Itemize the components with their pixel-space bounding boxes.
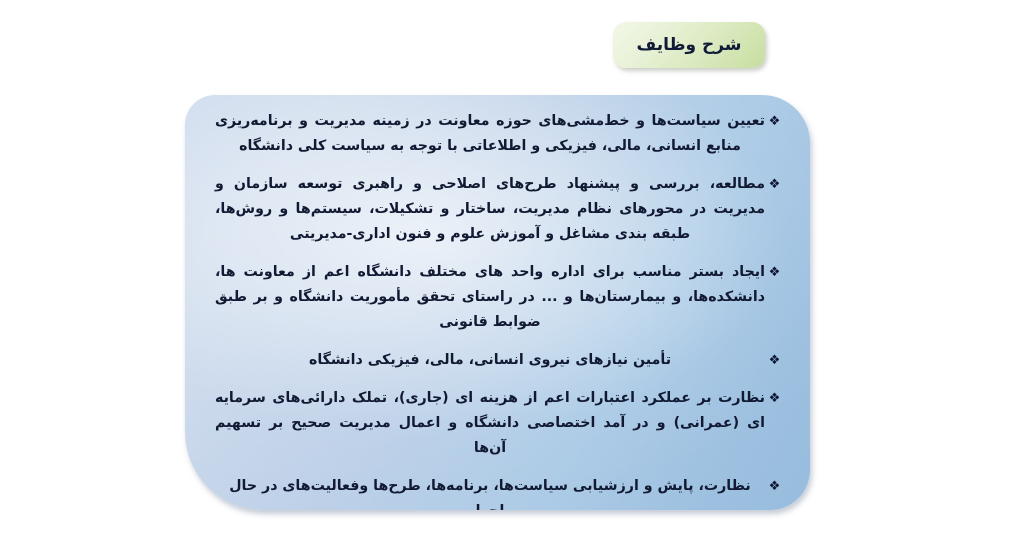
diamond-bullet-icon: ❖ (765, 109, 784, 134)
list-item-text: ایجاد بستر مناسب برای اداره واحد های مخت… (211, 260, 765, 335)
diamond-bullet-icon: ❖ (765, 348, 784, 373)
list-item: ❖تأمین نیازهای نیروی انسانی، مالی، فیزیک… (211, 348, 784, 373)
list-item-text: نظارت بر عملکرد اعتبارات اعم از هزینه ای… (211, 386, 765, 461)
diamond-bullet-icon: ❖ (765, 172, 784, 197)
list-item: ❖نظارت بر عملکرد اعتبارات اعم از هزینه ا… (211, 386, 784, 461)
list-item-text: نظارت، پایش و ارزشیابی سیاست‌ها، برنامه‌… (211, 474, 765, 510)
list-item: ❖ایجاد بستر مناسب برای اداره واحد های مخ… (211, 260, 784, 335)
list-item: ❖تعیین سیاست‌ها و خط‌مشی‌های حوزه معاونت… (211, 109, 784, 159)
diamond-bullet-icon: ❖ (765, 474, 784, 499)
duties-panel-content: ❖تعیین سیاست‌ها و خط‌مشی‌های حوزه معاونت… (185, 95, 810, 510)
list-item-text: تعیین سیاست‌ها و خط‌مشی‌های حوزه معاونت … (211, 109, 765, 159)
page-title-box: شرح وظایف (613, 22, 765, 68)
list-item: ❖مطالعه، بررسی و پیشنهاد طرح‌های اصلاحی … (211, 172, 784, 247)
page-title: شرح وظایف (636, 35, 741, 55)
list-item: ❖نظارت، پایش و ارزشیابی سیاست‌ها، برنامه… (211, 474, 784, 510)
diamond-bullet-icon: ❖ (765, 386, 784, 411)
diamond-bullet-icon: ❖ (765, 260, 784, 285)
list-item-text: تأمین نیازهای نیروی انسانی، مالی، فیزیکی… (211, 348, 765, 373)
list-item-text: مطالعه، بررسی و پیشنهاد طرح‌های اصلاحی و… (211, 172, 765, 247)
duties-list: ❖تعیین سیاست‌ها و خط‌مشی‌های حوزه معاونت… (211, 109, 784, 510)
duties-panel: ❖تعیین سیاست‌ها و خط‌مشی‌های حوزه معاونت… (185, 95, 810, 510)
